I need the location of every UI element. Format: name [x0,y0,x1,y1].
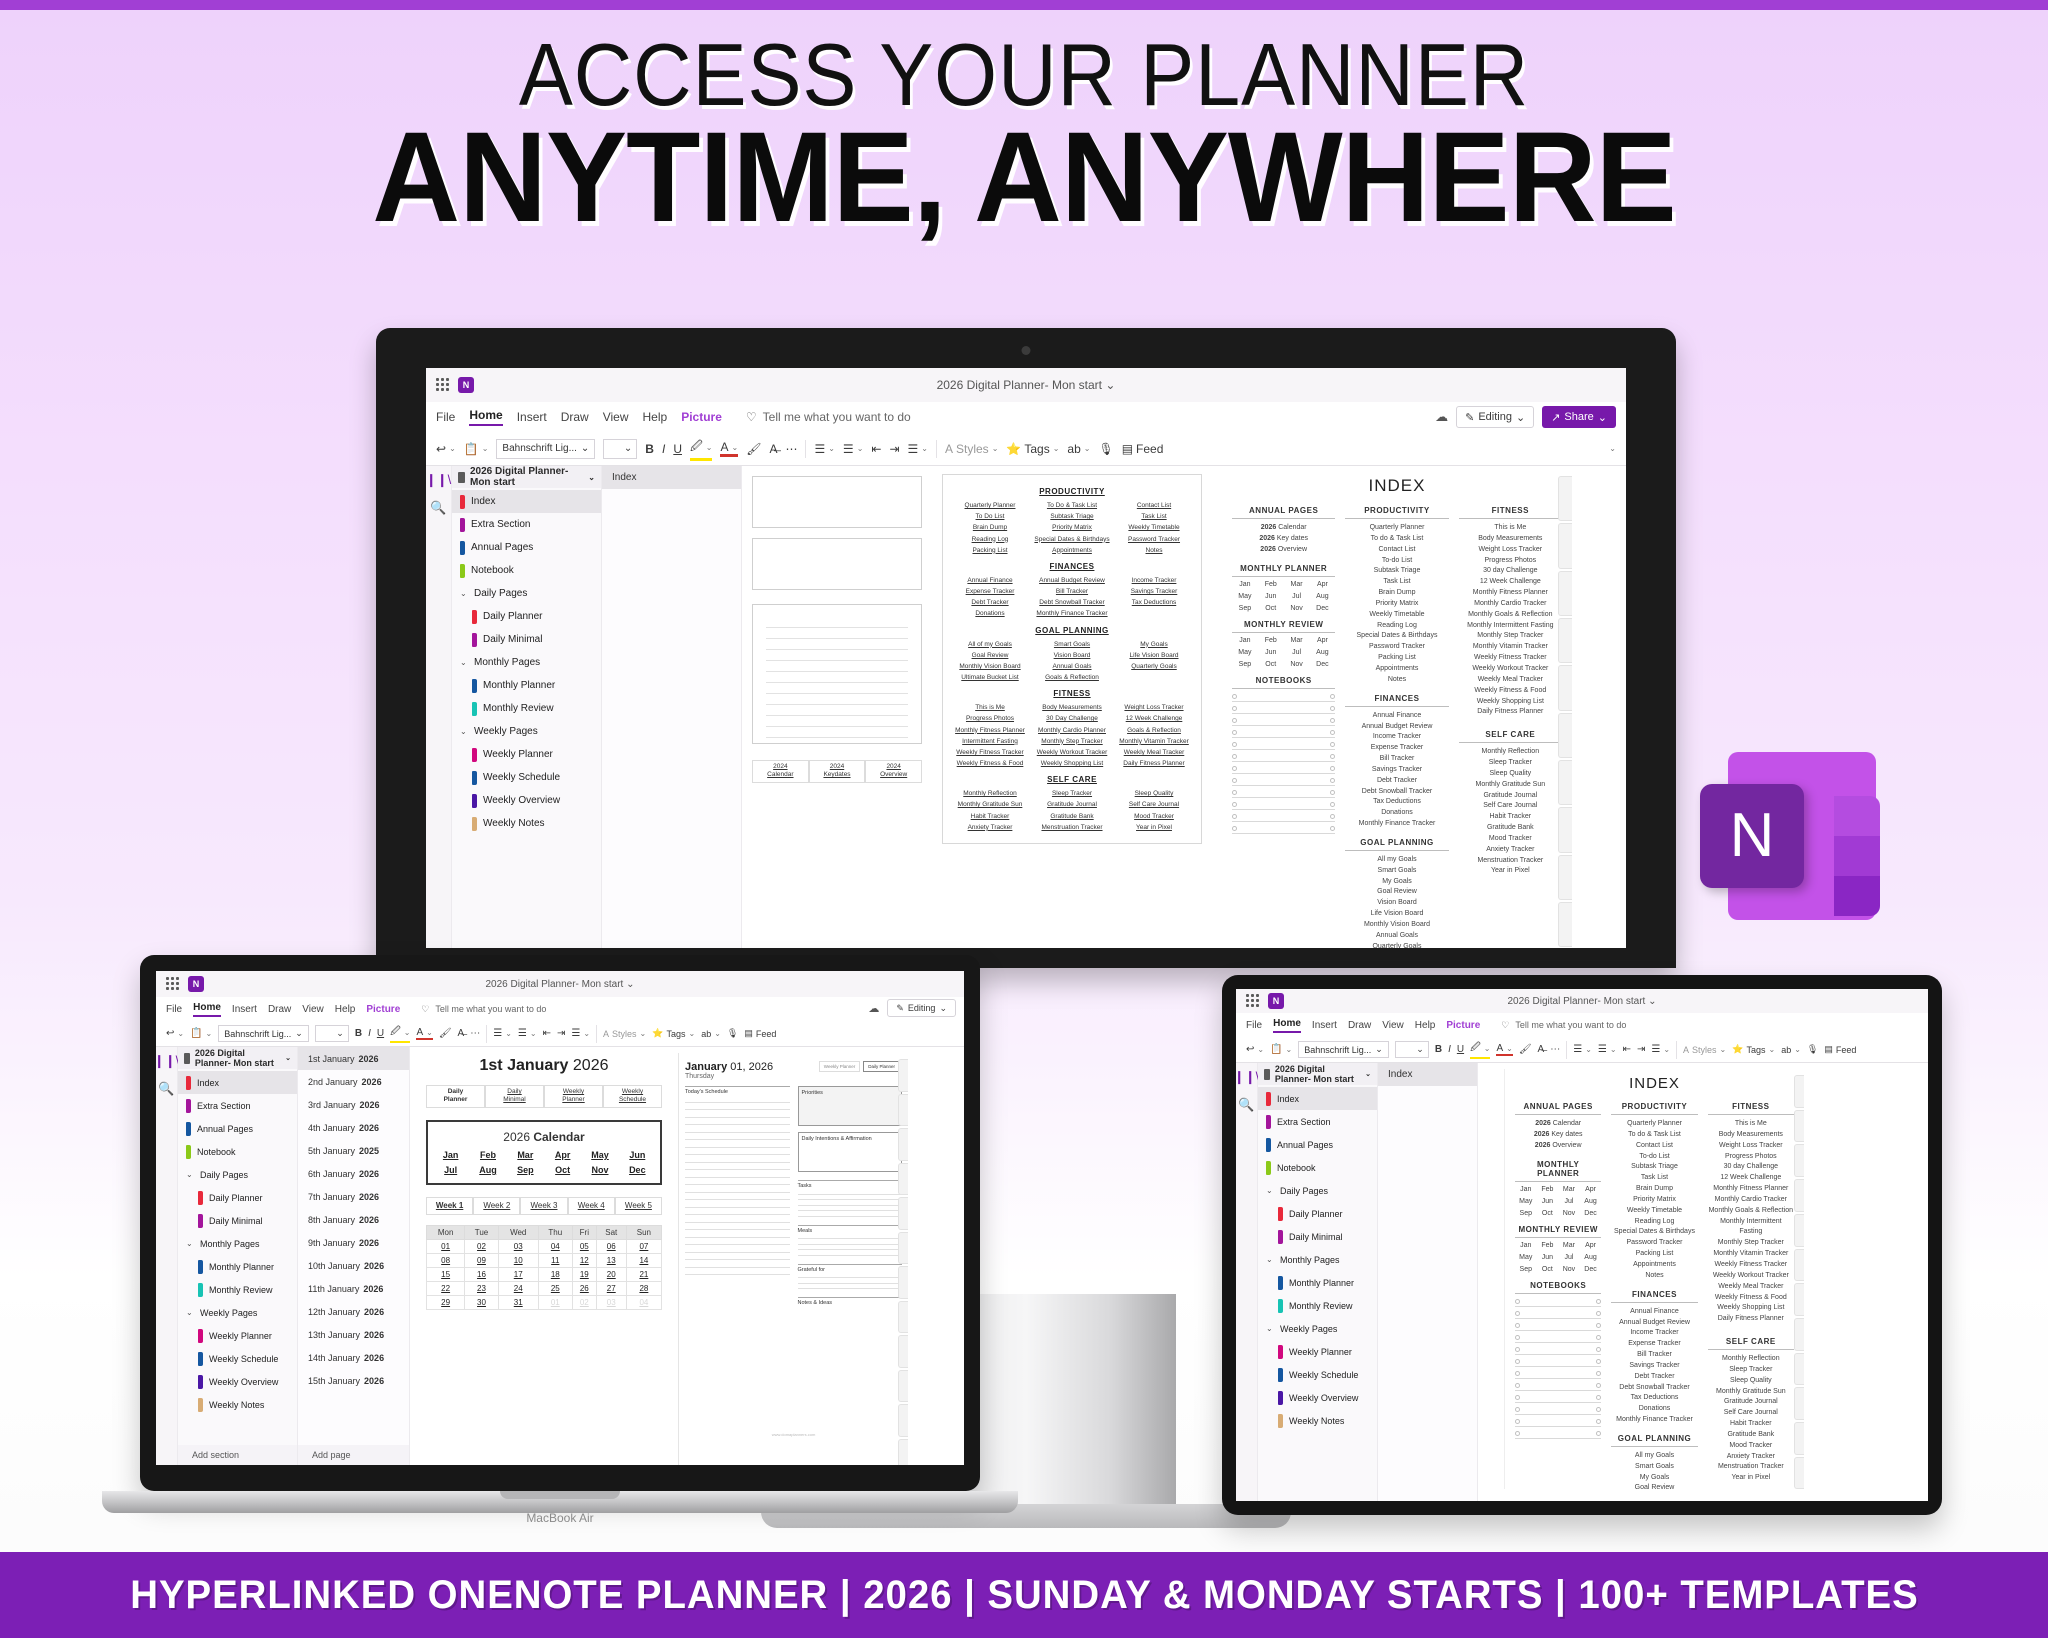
calendar-day[interactable]: 29 [427,1296,465,1310]
calendar-day[interactable]: 17 [498,1268,538,1282]
index-link[interactable]: Monthly Intermittent Fasting [1459,621,1562,632]
writing-line[interactable] [798,1284,903,1290]
calendar-day[interactable]: 16 [465,1268,498,1282]
notebook-row[interactable] [1515,1370,1601,1379]
page-item[interactable]: 13th January2026 [298,1323,409,1346]
app-launcher-icon[interactable] [1246,994,1260,1008]
month-link[interactable]: Jun [1537,1198,1559,1205]
linked-index-link[interactable]: Life Vision Board [1113,650,1195,661]
page-item[interactable]: 3rd January2026 [298,1093,409,1116]
align-button[interactable]: ☰⌄ [908,442,928,456]
index-link[interactable]: Appointments [1611,1260,1697,1271]
index-link[interactable]: Contact List [1345,545,1448,556]
writing-line[interactable] [685,1103,790,1111]
notebook-row[interactable] [1515,1310,1601,1319]
notebook-row[interactable] [1232,777,1335,786]
page-item[interactable]: 9th January2026 [298,1231,409,1254]
writing-line[interactable] [685,1215,790,1223]
format-painter-button[interactable]: 🖌 [746,442,761,456]
menu-view[interactable]: View [1382,1020,1404,1031]
linked-index-link[interactable]: Contact List [1113,500,1195,511]
tags-button[interactable]: ⭐Tags⌄ [652,1028,695,1039]
search-icon[interactable]: 🔍 [430,500,446,516]
linked-index-link[interactable]: Savings Tracker [1113,586,1195,597]
font-family-select[interactable]: Bahnschrift Lig...⌄ [1298,1041,1389,1058]
index-link[interactable]: Weekly Workout Tracker [1459,664,1562,675]
writing-line[interactable] [685,1268,790,1276]
month-link[interactable]: Apr [544,1150,581,1160]
decrease-indent-button[interactable]: ⇤ [871,442,881,456]
menu-insert[interactable]: Insert [232,1004,257,1015]
notebook-row[interactable] [1232,717,1335,726]
month-link[interactable]: Sep [1232,605,1258,612]
calendar-day[interactable]: 07 [626,1240,661,1254]
month-link[interactable]: Apr [1309,581,1335,588]
month-link[interactable]: Aug [469,1165,506,1175]
index-link[interactable]: Sleep Tracker [1708,1365,1794,1376]
spellcheck-button[interactable]: ab⌄ [1781,1045,1801,1055]
index-link[interactable]: Monthly Goals & Reflection [1708,1206,1794,1217]
month-link[interactable]: Mar [1284,581,1310,588]
notebook-row[interactable] [1232,801,1335,810]
menu-home[interactable]: Home [193,1002,221,1017]
share-button[interactable]: ↗Share⌄ [1542,406,1616,428]
sidebar-item-weekly-overview[interactable]: Weekly Overview [1258,1386,1377,1409]
notebook-row[interactable] [1515,1394,1601,1403]
more-options-button[interactable]: ⋯ [785,442,797,456]
month-link[interactable]: Apr [1309,637,1335,644]
calendar-day[interactable]: 01 [538,1296,572,1310]
linked-index-link[interactable]: This is Me [949,702,1031,713]
linked-index-link[interactable]: 30 Day Challenge [1031,713,1113,724]
index-link[interactable]: Weekly Fitness Tracker [1459,653,1562,664]
index-link[interactable]: Progress Photos [1459,556,1562,567]
index-link[interactable]: Smart Goals [1345,866,1448,877]
chevron-down-icon[interactable]: ⌄ [1266,1255,1274,1264]
bullet-list-button[interactable]: ☰⌄ [814,442,834,456]
menu-file[interactable]: File [166,1004,182,1015]
clipboard-button[interactable]: 📋⌄ [1270,1044,1292,1055]
month-link[interactable]: Aug [1309,649,1335,656]
sidebar-item-annual-pages[interactable]: Annual Pages [178,1117,297,1140]
italic-button[interactable]: I [662,442,665,456]
bullet-list-button[interactable]: ☰⌄ [1573,1044,1592,1055]
linked-index-link[interactable]: Sleep Quality [1113,788,1195,799]
font-size-select[interactable]: ⌄ [1395,1041,1429,1058]
calendar-day[interactable]: 31 [498,1296,538,1310]
linked-index-link[interactable]: Year in Pixel [1113,822,1195,833]
linked-index-link[interactable]: Menstruation Tracker [1031,822,1113,833]
index-link[interactable]: Annual Finance [1345,711,1448,722]
month-link[interactable]: Feb [1537,1242,1559,1249]
sidebar-item-extra-section[interactable]: Extra Section [1258,1110,1377,1133]
index-link[interactable]: To-do List [1611,1152,1697,1163]
month-link[interactable]: Jul [1284,649,1310,656]
calendar-day[interactable]: 03 [596,1296,626,1310]
notebook-row[interactable] [1515,1346,1601,1355]
linked-index-link[interactable]: Ultimate Bucket List [949,672,1031,683]
writing-line[interactable] [685,1140,790,1148]
linked-index-link[interactable]: Monthly Gratitude Sun [949,799,1031,810]
linked-index-link[interactable]: Quarterly Goals [1113,661,1195,672]
index-link[interactable]: Monthly Goals & Reflection [1459,610,1562,621]
index-link[interactable]: 30 day Challenge [1459,566,1562,577]
linked-index-link[interactable]: Notes [1113,545,1195,556]
index-link[interactable]: Monthly Vitamin Tracker [1708,1249,1794,1260]
linked-index-link[interactable]: Annual Goals [1031,661,1113,672]
year-tab[interactable]: 2024Keydates [809,760,866,783]
calendar-day[interactable]: 05 [572,1240,596,1254]
lined-box[interactable] [752,604,922,744]
writing-line[interactable] [685,1245,790,1253]
writing-line[interactable] [798,1211,903,1217]
index-link[interactable]: Menstruation Tracker [1459,856,1562,867]
month-link[interactable]: May [1515,1254,1537,1261]
underline-button[interactable]: U [673,442,682,456]
grateful-lines[interactable] [798,1273,903,1290]
linked-index-link[interactable]: Daily Fitness Planner [1113,758,1195,769]
linked-index-link[interactable]: Task List [1113,511,1195,522]
menu-insert[interactable]: Insert [1312,1020,1337,1031]
calendar-day[interactable]: 13 [596,1254,626,1268]
sidebar-item-monthly-planner[interactable]: Monthly Planner [1258,1271,1377,1294]
month-link[interactable]: Feb [1258,581,1284,588]
notebooks-icon[interactable]: ❙❙\ [426,472,451,488]
highlighter-button[interactable]: 🖉⌄ [390,1024,410,1043]
index-link[interactable]: Sleep Quality [1708,1376,1794,1387]
more-options-button[interactable]: ⋯ [470,1028,480,1039]
sidebar-item-extra-section[interactable]: Extra Section [452,513,601,536]
index-link[interactable]: Annual Budget Review [1611,1318,1697,1329]
index-link[interactable]: Contact List [1611,1141,1697,1152]
index-link[interactable]: Monthly Cardio Tracker [1459,599,1562,610]
year-tab[interactable]: 2024Overview [865,760,922,783]
index-link[interactable]: Packing List [1345,653,1448,664]
linked-index-link[interactable]: Monthly Finance Tracker [1031,608,1113,619]
index-link[interactable]: Brain Dump [1345,588,1448,599]
index-link[interactable]: Quarterly Planner [1345,523,1448,534]
month-link[interactable]: Jul [1558,1254,1580,1261]
page-item[interactable]: 4th January2026 [298,1116,409,1139]
month-link[interactable]: Dec [1309,661,1335,668]
week-tab[interactable]: Week 5 [615,1197,662,1215]
sidebar-item-weekly-schedule[interactable]: Weekly Schedule [1258,1363,1377,1386]
menu-picture[interactable]: Picture [366,1004,400,1015]
index-link[interactable]: Gratitude Bank [1459,823,1562,834]
linked-index-link[interactable]: Weekly Shopping List [1031,758,1113,769]
index-link[interactable]: Monthly Step Tracker [1459,631,1562,642]
annual-item[interactable]: 2026 Overview [1232,545,1335,556]
month-link[interactable]: Sep [1515,1210,1537,1217]
chevron-down-icon[interactable]: ⌄ [1266,1324,1274,1333]
menu-insert[interactable]: Insert [517,410,547,424]
month-link[interactable]: Jan [1515,1186,1537,1193]
page-item[interactable]: 2nd January2026 [298,1070,409,1093]
index-link[interactable]: Gratitude Bank [1708,1430,1794,1441]
tell-me-search[interactable]: ♡Tell me what you want to do [1501,1020,1626,1031]
linked-index-link[interactable]: Weekly Fitness & Food [949,758,1031,769]
spellcheck-button[interactable]: ab⌄ [1067,442,1090,456]
linked-index-link[interactable]: Weekly Timetable [1113,522,1195,533]
index-link[interactable]: Sleep Quality [1459,769,1562,780]
calendar-day[interactable]: 08 [427,1254,465,1268]
notebook-row[interactable] [1232,813,1335,822]
font-color-button[interactable]: A⌄ [720,440,738,457]
index-link[interactable]: Priority Matrix [1345,599,1448,610]
index-link[interactable]: Weekly Shopping List [1459,697,1562,708]
calendar-day[interactable]: 04 [626,1296,661,1310]
index-link[interactable]: Debt Snowball Tracker [1611,1383,1697,1394]
notebook-row[interactable] [1515,1418,1601,1427]
annual-item[interactable]: 2026 Key dates [1515,1130,1601,1141]
clipboard-button[interactable]: 📋⌄ [190,1028,212,1039]
menu-home[interactable]: Home [469,408,502,426]
index-link[interactable]: 12 Week Challenge [1459,577,1562,588]
week-tab[interactable]: Week 1 [426,1197,473,1215]
page-item[interactable]: 7th January2026 [298,1185,409,1208]
linked-index-link[interactable]: Goals & Reflection [1113,725,1195,736]
writing-line[interactable] [685,1118,790,1126]
month-link[interactable]: Mar [1284,637,1310,644]
month-link[interactable]: Aug [1580,1198,1602,1205]
page-side-tabs[interactable] [898,1053,908,1465]
menu-file[interactable]: File [1246,1020,1262,1031]
index-link[interactable]: Weekly Timetable [1611,1206,1697,1217]
linked-index-link[interactable]: Monthly Reflection [949,788,1031,799]
index-link[interactable]: Monthly Gratitude Sun [1459,780,1562,791]
linked-index-link[interactable]: Goals & Reflection [1031,672,1113,683]
linked-index-link[interactable]: To Do & Task List [1031,500,1113,511]
undo-button[interactable]: ↩⌄ [1246,1044,1264,1055]
writing-line[interactable] [685,1185,790,1193]
month-link[interactable]: Jan [1232,581,1258,588]
sidebar-item-weekly-notes[interactable]: Weekly Notes [178,1393,297,1416]
index-link[interactable]: Weekly Workout Tracker [1708,1271,1794,1282]
writing-line[interactable] [685,1110,790,1118]
weekly-planner-button[interactable]: Weekly Planner [819,1061,860,1072]
index-link[interactable]: Monthly Vitamin Tracker [1459,642,1562,653]
highlighter-button[interactable]: 🖉⌄ [1470,1040,1490,1059]
page-side-tabs[interactable] [1558,470,1572,948]
notebooks-icon[interactable]: ❙❙\ [156,1053,179,1069]
styles-button[interactable]: AStyles⌄ [1683,1045,1726,1055]
chevron-down-icon[interactable]: ⌄ [1266,1186,1274,1195]
writing-line[interactable] [798,1250,903,1256]
undo-button[interactable]: ↩⌄ [436,442,456,456]
month-link[interactable]: Feb [1258,637,1284,644]
index-link[interactable]: 30 day Challenge [1708,1162,1794,1173]
month-link[interactable]: Jun [1258,593,1284,600]
month-link[interactable]: Jun [1258,649,1284,656]
writing-line[interactable] [685,1178,790,1186]
page-item[interactable]: 12th January2026 [298,1300,409,1323]
index-link[interactable]: Income Tracker [1345,732,1448,743]
chevron-down-icon[interactable]: ⌄ [186,1308,194,1317]
month-link[interactable]: Oct [1258,661,1284,668]
writing-line[interactable] [685,1230,790,1238]
index-link[interactable]: Year in Pixel [1708,1473,1794,1484]
linked-index-link[interactable]: Self Care Journal [1113,799,1195,810]
feed-button[interactable]: ▤Feed [1824,1044,1856,1055]
calendar-day[interactable]: 03 [498,1240,538,1254]
linked-index-link[interactable]: Gratitude Bank [1031,811,1113,822]
index-link[interactable]: Monthly Reflection [1459,747,1562,758]
writing-line[interactable] [685,1163,790,1171]
annual-item[interactable]: 2026 Calendar [1515,1119,1601,1130]
clipboard-button[interactable]: 📋⌄ [464,442,489,456]
linked-index-link[interactable]: Gratitude Journal [1031,799,1113,810]
notebook-row[interactable] [1515,1334,1601,1343]
styles-button[interactable]: AStyles⌄ [945,442,998,456]
menu-view[interactable]: View [603,410,629,424]
index-link[interactable]: This is Me [1708,1119,1794,1130]
linked-index-link[interactable]: Monthly Cardio Planner [1031,725,1113,736]
index-link[interactable]: To do & Task List [1611,1130,1697,1141]
clear-formatting-button[interactable]: A̶ [769,442,777,456]
calendar-day[interactable]: 14 [626,1254,661,1268]
calendar-day[interactable]: 02 [572,1296,596,1310]
sidebar-item-index[interactable]: Index [452,490,601,513]
index-link[interactable]: Anxiety Tracker [1459,845,1562,856]
linked-index-link[interactable]: Special Dates & Birthdays [1031,534,1113,545]
index-link[interactable]: Weekly Meal Tracker [1708,1282,1794,1293]
sidebar-item-notebook[interactable]: Notebook [178,1140,297,1163]
app-launcher-icon[interactable] [436,378,450,392]
index-link[interactable]: Weekly Fitness & Food [1459,686,1562,697]
calendar-day[interactable]: 12 [572,1254,596,1268]
sidebar-item-weekly-notes[interactable]: Weekly Notes [1258,1409,1377,1432]
linked-index-link[interactable]: Weekly Fitness Tracker [949,747,1031,758]
linked-index-link[interactable]: Expense Tracker [949,586,1031,597]
index-link[interactable]: Mood Tracker [1459,834,1562,845]
menu-home[interactable]: Home [1273,1018,1301,1033]
index-link[interactable]: Special Dates & Birthdays [1345,631,1448,642]
month-link[interactable]: Oct [544,1165,581,1175]
month-link[interactable]: Aug [1580,1254,1602,1261]
blank-box-2[interactable] [752,538,922,590]
page-item[interactable]: 11th January2026 [298,1277,409,1300]
index-link[interactable]: Income Tracker [1611,1328,1697,1339]
bullet-list-button[interactable]: ☰⌄ [493,1028,512,1039]
menu-help[interactable]: Help [1415,1020,1436,1031]
index-link[interactable]: My Goals [1345,877,1448,888]
align-button[interactable]: ☰⌄ [1651,1044,1670,1055]
font-family-select[interactable]: Bahnschrift Lig...⌄ [218,1025,309,1042]
linked-index-link[interactable]: Mood Tracker [1113,811,1195,822]
month-link[interactable]: Sep [1232,661,1258,668]
month-link[interactable]: Nov [1558,1210,1580,1217]
index-link[interactable]: Gratitude Journal [1708,1397,1794,1408]
index-link[interactable]: Life Vision Board [1345,909,1448,920]
annual-item[interactable]: 2026 Calendar [1232,523,1335,534]
index-link[interactable]: Debt Tracker [1345,776,1448,787]
linked-index-link[interactable]: Income Tracker [1113,575,1195,586]
linked-index-link[interactable]: All of my Goals [949,639,1031,650]
month-link[interactable]: Jun [1537,1254,1559,1261]
feed-button[interactable]: ▤Feed [1122,442,1164,456]
linked-index-link[interactable]: Donations [949,608,1031,619]
more-options-button[interactable]: ⋯ [1550,1044,1560,1055]
month-link[interactable]: Dec [1580,1210,1602,1217]
linked-index-link[interactable]: Body Measurements [1031,702,1113,713]
daily-nav-tab[interactable]: DailyMinimal [485,1085,544,1108]
meal-lines[interactable] [798,1234,903,1256]
writing-line[interactable] [685,1238,790,1246]
menu-draw[interactable]: Draw [268,1004,291,1015]
month-link[interactable]: Jan [1232,637,1258,644]
index-link[interactable]: Password Tracker [1345,642,1448,653]
month-link[interactable]: Apr [1580,1242,1602,1249]
sidebar-item-annual-pages[interactable]: Annual Pages [1258,1133,1377,1156]
add-page-bar[interactable]: Add page [298,1445,409,1465]
index-link[interactable]: Goal Review [1345,887,1448,898]
clear-formatting-button[interactable]: A̶ [1538,1044,1545,1055]
index-link[interactable]: Password Tracker [1611,1238,1697,1249]
index-link[interactable]: Self Care Journal [1459,801,1562,812]
linked-index-link[interactable]: Monthly Fitness Planner [949,725,1031,736]
index-link[interactable]: Expense Tracker [1611,1339,1697,1350]
chevron-down-icon[interactable]: ⌄ [460,589,468,598]
sidebar-item-weekly-schedule[interactable]: Weekly Schedule [452,766,601,789]
index-link[interactable]: Appointments [1345,664,1448,675]
calendar-day[interactable]: 01 [427,1240,465,1254]
sidebar-item-weekly-pages[interactable]: ⌄Weekly Pages [178,1301,297,1324]
index-link[interactable]: Donations [1611,1404,1697,1415]
index-link[interactable]: Notes [1611,1271,1697,1282]
month-link[interactable]: Apr [1580,1186,1602,1193]
index-link[interactable]: Monthly Finance Tracker [1345,819,1448,830]
spellcheck-button[interactable]: ab⌄ [701,1029,721,1039]
index-link[interactable]: Weight Loss Tracker [1708,1141,1794,1152]
task-lines[interactable] [798,1189,903,1217]
search-icon[interactable]: 🔍 [1238,1097,1254,1113]
index-link[interactable]: Bill Tracker [1611,1350,1697,1361]
index-link[interactable]: Annual Finance [1611,1307,1697,1318]
page-item-index[interactable]: Index [602,466,741,489]
chevron-down-icon[interactable]: ⌄ [1648,996,1656,1007]
page-item[interactable]: 14th January2026 [298,1346,409,1369]
index-link[interactable]: Brain Dump [1611,1184,1697,1195]
chevron-down-icon[interactable]: ⌄ [460,727,468,736]
dictate-button[interactable]: 🎙 [1098,442,1113,456]
index-link[interactable]: Menstruation Tracker [1708,1462,1794,1473]
calendar-day[interactable]: 06 [596,1240,626,1254]
undo-button[interactable]: ↩⌄ [166,1028,184,1039]
linked-index-link[interactable]: Quarterly Planner [949,500,1031,511]
index-link[interactable]: Monthly Fitness Planner [1708,1184,1794,1195]
index-link[interactable]: Progress Photos [1708,1152,1794,1163]
linked-index-link[interactable]: Weekly Meal Tracker [1113,747,1195,758]
index-link[interactable]: Mood Tracker [1708,1441,1794,1452]
sidebar-item-daily-planner[interactable]: Daily Planner [1258,1202,1377,1225]
index-link[interactable]: Anxiety Tracker [1708,1452,1794,1463]
index-link[interactable]: Savings Tracker [1611,1361,1697,1372]
underline-button[interactable]: U [377,1028,384,1039]
calendar-day[interactable]: 21 [626,1268,661,1282]
editing-button[interactable]: ✎Editing⌄ [1456,406,1534,428]
notebook-row[interactable] [1515,1322,1601,1331]
index-link[interactable]: Reading Log [1345,621,1448,632]
linked-index-link[interactable]: Weekly Workout Tracker [1031,747,1113,758]
index-link[interactable]: Packing List [1611,1249,1697,1260]
index-link[interactable]: Reading Log [1611,1217,1697,1228]
month-link[interactable]: May [1232,649,1258,656]
linked-index-link[interactable]: Anxiety Tracker [949,822,1031,833]
linked-index-link[interactable]: Brain Dump [949,522,1031,533]
calendar-day[interactable]: 30 [465,1296,498,1310]
page-item[interactable]: 8th January2026 [298,1208,409,1231]
writing-line[interactable] [685,1148,790,1156]
